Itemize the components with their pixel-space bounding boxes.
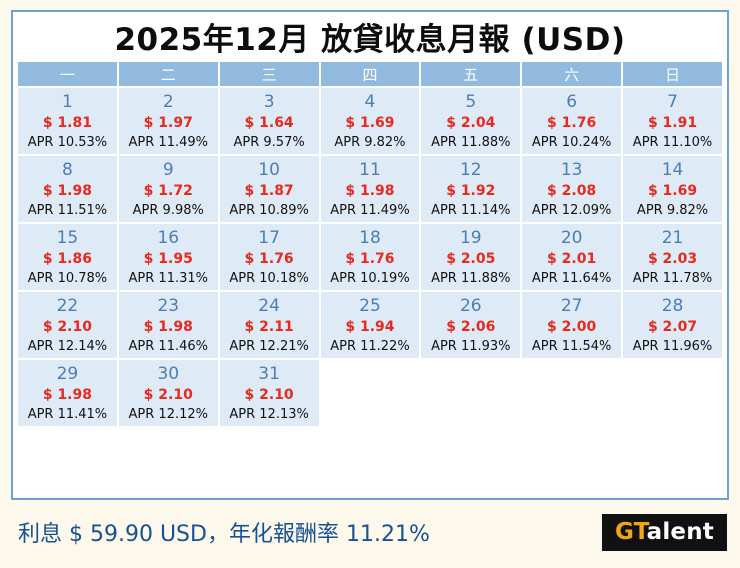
day-number: 6 <box>566 92 577 113</box>
day-apr: APR 11.54% <box>532 337 611 356</box>
day-number: 18 <box>359 228 381 249</box>
calendar-week-row: 29$ 1.98APR 11.41% 30$ 2.10APR 12.12% 31… <box>18 360 722 426</box>
summary-text: 利息 $ 59.90 USD，年化報酬率 11.21% <box>11 516 430 548</box>
day-amount: $ 1.76 <box>547 113 596 133</box>
day-apr: APR 10.78% <box>28 269 107 288</box>
calendar-header: 一 二 三 四 五 六 日 <box>18 62 722 86</box>
calendar-body: 1$ 1.81APR 10.53% 2$ 1.97APR 11.49% 3$ 1… <box>18 88 722 426</box>
day-amount: $ 1.91 <box>648 113 697 133</box>
day-apr: APR 9.82% <box>334 133 405 152</box>
day-apr: APR 12.13% <box>229 405 308 424</box>
day-apr: APR 11.49% <box>129 133 208 152</box>
day-cell[interactable]: 29$ 1.98APR 11.41% <box>18 360 117 426</box>
day-amount: $ 2.10 <box>245 385 294 405</box>
day-number: 13 <box>561 160 583 181</box>
day-number: 8 <box>62 160 73 181</box>
day-amount: $ 2.10 <box>144 385 193 405</box>
day-amount: $ 1.81 <box>43 113 92 133</box>
day-cell[interactable]: 27$ 2.00APR 11.54% <box>522 292 621 358</box>
day-apr: APR 10.89% <box>229 201 308 220</box>
day-amount: $ 1.69 <box>345 113 394 133</box>
day-cell[interactable]: 28$ 2.07APR 11.96% <box>623 292 722 358</box>
day-cell[interactable]: 24$ 2.11APR 12.21% <box>220 292 319 358</box>
day-cell[interactable]: 6$ 1.76APR 10.24% <box>522 88 621 154</box>
day-number: 4 <box>365 92 376 113</box>
day-number: 23 <box>157 296 179 317</box>
day-number: 11 <box>359 160 381 181</box>
day-apr: APR 9.98% <box>133 201 204 220</box>
day-apr: APR 11.88% <box>431 269 510 288</box>
logo-accent-text: GT <box>615 519 647 545</box>
day-amount: $ 2.00 <box>547 317 596 337</box>
day-apr: APR 10.24% <box>532 133 611 152</box>
day-cell[interactable]: 22$ 2.10APR 12.14% <box>18 292 117 358</box>
page-title: 2025年12月 放貸收息月報 (USD) <box>114 14 625 59</box>
day-apr: APR 9.57% <box>234 133 305 152</box>
day-amount: $ 1.98 <box>43 385 92 405</box>
day-amount: $ 1.76 <box>345 249 394 269</box>
day-amount: $ 1.76 <box>245 249 294 269</box>
day-apr: APR 12.14% <box>28 337 107 356</box>
calendar-week-row: 22$ 2.10APR 12.14% 23$ 1.98APR 11.46% 24… <box>18 292 722 358</box>
day-cell[interactable]: 2$ 1.97APR 11.49% <box>119 88 218 154</box>
day-number: 31 <box>258 364 280 385</box>
day-amount: $ 1.98 <box>43 181 92 201</box>
day-number: 5 <box>465 92 476 113</box>
footer: 利息 $ 59.90 USD，年化報酬率 11.21% GTalent <box>11 505 729 559</box>
day-number: 16 <box>157 228 179 249</box>
day-number: 26 <box>460 296 482 317</box>
day-amount: $ 1.72 <box>144 181 193 201</box>
day-apr: APR 12.12% <box>129 405 208 424</box>
day-amount: $ 1.92 <box>446 181 495 201</box>
day-amount: $ 1.64 <box>245 113 294 133</box>
day-number: 25 <box>359 296 381 317</box>
day-amount: $ 1.69 <box>648 181 697 201</box>
day-cell[interactable]: 7$ 1.91APR 11.10% <box>623 88 722 154</box>
day-cell[interactable]: 19$ 2.05APR 11.88% <box>421 224 520 290</box>
day-amount: $ 1.86 <box>43 249 92 269</box>
weekday-header-wed: 三 <box>220 62 319 86</box>
day-cell[interactable]: 30$ 2.10APR 12.12% <box>119 360 218 426</box>
calendar-week-row: 15$ 1.86APR 10.78% 16$ 1.95APR 11.31% 17… <box>18 224 722 290</box>
day-cell[interactable]: 3$ 1.64APR 9.57% <box>220 88 319 154</box>
day-apr: APR 12.09% <box>532 201 611 220</box>
monthly-lending-interest-report: 2025年12月 放貸收息月報 (USD) 一 二 三 四 五 六 日 1$ 1… <box>0 0 740 568</box>
day-cell[interactable]: 11$ 1.98APR 11.49% <box>321 156 420 222</box>
day-apr: APR 11.88% <box>431 133 510 152</box>
day-cell[interactable]: 23$ 1.98APR 11.46% <box>119 292 218 358</box>
day-amount: $ 2.01 <box>547 249 596 269</box>
day-apr: APR 11.96% <box>633 337 712 356</box>
day-amount: $ 1.95 <box>144 249 193 269</box>
day-amount: $ 2.11 <box>245 317 294 337</box>
day-amount: $ 1.98 <box>345 181 394 201</box>
day-amount: $ 1.87 <box>245 181 294 201</box>
day-cell[interactable]: 5$ 2.04APR 11.88% <box>421 88 520 154</box>
day-amount: $ 2.03 <box>648 249 697 269</box>
day-number: 1 <box>62 92 73 113</box>
day-apr: APR 11.14% <box>431 201 510 220</box>
day-number: 29 <box>57 364 79 385</box>
day-number: 19 <box>460 228 482 249</box>
day-cell[interactable]: 13$ 2.08APR 12.09% <box>522 156 621 222</box>
weekday-header-tue: 二 <box>119 62 218 86</box>
calendar-week-row: 8$ 1.98APR 11.51% 9$ 1.72APR 9.98% 10$ 1… <box>18 156 722 222</box>
day-cell[interactable]: 17$ 1.76APR 10.18% <box>220 224 319 290</box>
day-apr: APR 11.64% <box>532 269 611 288</box>
day-cell[interactable]: 18$ 1.76APR 10.19% <box>321 224 420 290</box>
day-number: 12 <box>460 160 482 181</box>
day-number: 20 <box>561 228 583 249</box>
day-number: 14 <box>662 160 684 181</box>
day-number: 24 <box>258 296 280 317</box>
day-number: 9 <box>163 160 174 181</box>
day-amount: $ 2.10 <box>43 317 92 337</box>
day-amount: $ 1.94 <box>345 317 394 337</box>
day-cell[interactable]: 20$ 2.01APR 11.64% <box>522 224 621 290</box>
day-cell[interactable]: 1$ 1.81APR 10.53% <box>18 88 117 154</box>
day-cell-empty <box>522 360 621 426</box>
day-number: 28 <box>662 296 684 317</box>
day-cell-empty <box>421 360 520 426</box>
day-number: 7 <box>667 92 678 113</box>
day-cell[interactable]: 16$ 1.95APR 11.31% <box>119 224 218 290</box>
day-amount: $ 2.06 <box>446 317 495 337</box>
logo-rest-text: alent <box>647 519 714 545</box>
day-cell[interactable]: 9$ 1.72APR 9.98% <box>119 156 218 222</box>
day-number: 15 <box>57 228 79 249</box>
day-cell[interactable]: 26$ 2.06APR 11.93% <box>421 292 520 358</box>
day-amount: $ 1.98 <box>144 317 193 337</box>
gtalent-logo: GTalent <box>602 514 727 551</box>
day-cell[interactable]: 31$ 2.10APR 12.13% <box>220 360 319 426</box>
day-cell-empty <box>623 360 722 426</box>
day-apr: APR 9.82% <box>637 201 708 220</box>
day-amount: $ 2.08 <box>547 181 596 201</box>
day-apr: APR 11.51% <box>28 201 107 220</box>
day-cell[interactable]: 15$ 1.86APR 10.78% <box>18 224 117 290</box>
day-cell[interactable]: 4$ 1.69APR 9.82% <box>321 88 420 154</box>
day-amount: $ 2.04 <box>446 113 495 133</box>
day-apr: APR 11.31% <box>129 269 208 288</box>
day-apr: APR 11.22% <box>330 337 409 356</box>
day-cell[interactable]: 10$ 1.87APR 10.89% <box>220 156 319 222</box>
day-apr: APR 11.78% <box>633 269 712 288</box>
weekday-header-mon: 一 <box>18 62 117 86</box>
weekday-header-sat: 六 <box>522 62 621 86</box>
title-bar: 2025年12月 放貸收息月報 (USD) <box>13 12 727 60</box>
report-card: 2025年12月 放貸收息月報 (USD) 一 二 三 四 五 六 日 1$ 1… <box>11 10 729 500</box>
day-cell[interactable]: 21$ 2.03APR 11.78% <box>623 224 722 290</box>
day-number: 17 <box>258 228 280 249</box>
calendar-table: 一 二 三 四 五 六 日 1$ 1.81APR 10.53% 2$ 1.97A… <box>16 60 724 428</box>
day-cell[interactable]: 12$ 1.92APR 11.14% <box>421 156 520 222</box>
day-number: 2 <box>163 92 174 113</box>
weekday-header-fri: 五 <box>421 62 520 86</box>
weekday-header-thu: 四 <box>321 62 420 86</box>
day-apr: APR 11.49% <box>330 201 409 220</box>
day-apr: APR 11.41% <box>28 405 107 424</box>
weekday-header-sun: 日 <box>623 62 722 86</box>
weekday-header-row: 一 二 三 四 五 六 日 <box>18 62 722 86</box>
day-apr: APR 11.10% <box>633 133 712 152</box>
day-number: 27 <box>561 296 583 317</box>
day-amount: $ 2.07 <box>648 317 697 337</box>
day-cell[interactable]: 25$ 1.94APR 11.22% <box>321 292 420 358</box>
day-apr: APR 11.46% <box>129 337 208 356</box>
day-apr: APR 12.21% <box>229 337 308 356</box>
day-amount: $ 1.97 <box>144 113 193 133</box>
day-number: 22 <box>57 296 79 317</box>
day-cell[interactable]: 8$ 1.98APR 11.51% <box>18 156 117 222</box>
day-cell-empty <box>321 360 420 426</box>
day-number: 30 <box>157 364 179 385</box>
day-cell[interactable]: 14$ 1.69APR 9.82% <box>623 156 722 222</box>
day-apr: APR 10.19% <box>330 269 409 288</box>
calendar-week-row: 1$ 1.81APR 10.53% 2$ 1.97APR 11.49% 3$ 1… <box>18 88 722 154</box>
day-apr: APR 11.93% <box>431 337 510 356</box>
day-apr: APR 10.18% <box>229 269 308 288</box>
day-number: 3 <box>264 92 275 113</box>
day-amount: $ 2.05 <box>446 249 495 269</box>
day-number: 10 <box>258 160 280 181</box>
day-number: 21 <box>662 228 684 249</box>
day-apr: APR 10.53% <box>28 133 107 152</box>
